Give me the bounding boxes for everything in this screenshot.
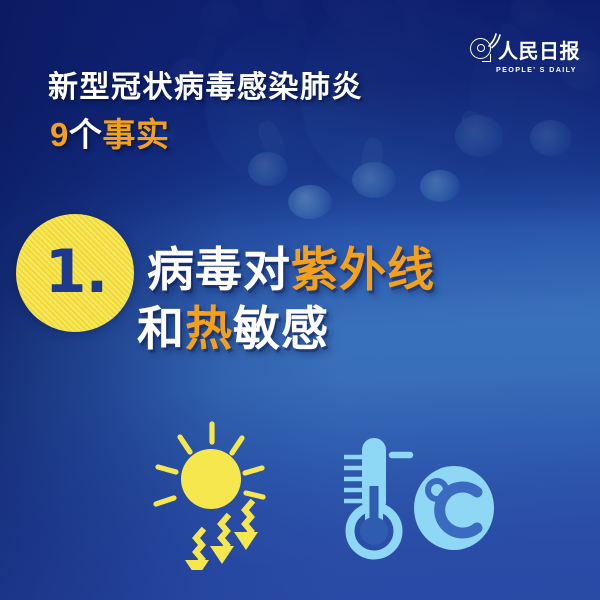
heat-arrow-head [185, 560, 209, 570]
fact-line-2-part-b: 热 [185, 302, 233, 355]
fact-line-1-part-b: 紫外线 [291, 243, 435, 296]
subtitle-measure-word: 个 [69, 116, 103, 153]
sun-with-rays-icon [150, 420, 310, 570]
page-title: 新型冠状病毒感染肺炎 [48, 73, 363, 103]
heat-arrow-head [234, 532, 258, 550]
thermometer-icon [344, 438, 410, 555]
fact-line-2: 和热敏感 [137, 299, 435, 358]
celsius-degree-icon [414, 466, 494, 550]
fact-line-2-part-c: 敏感 [233, 302, 329, 355]
subtitle-count: 9 [50, 116, 69, 153]
fact-line-2-part-a: 和 [137, 302, 185, 355]
temperature-icon-group [340, 428, 500, 568]
poster-root: 人民日报 PEOPLE' S DAILY 新型冠状病毒感染肺炎 9个事实 1. … [0, 0, 600, 600]
fact-text-block: 病毒对紫外线 和热敏感 [147, 240, 435, 358]
fact-number-label: 1. [45, 242, 108, 302]
page-subtitle: 9个事实 [50, 118, 169, 151]
logo-row: 人民日报 [470, 38, 580, 63]
fact-line-1-part-a: 病毒对 [147, 243, 291, 296]
logo-english-text: PEOPLE' S DAILY [496, 66, 577, 73]
signal-waves-icon [485, 33, 503, 51]
peoples-daily-logo: 人民日报 PEOPLE' S DAILY [470, 38, 580, 73]
fact-number-badge: 1. [16, 214, 134, 332]
fact-line-1: 病毒对紫外线 [147, 240, 435, 299]
at-symbol-icon [470, 38, 495, 63]
heat-arrow-head [210, 546, 234, 564]
logo-chinese-text: 人民日报 [498, 42, 580, 62]
subtitle-noun: 事实 [102, 116, 169, 153]
sun-disc [181, 449, 241, 509]
